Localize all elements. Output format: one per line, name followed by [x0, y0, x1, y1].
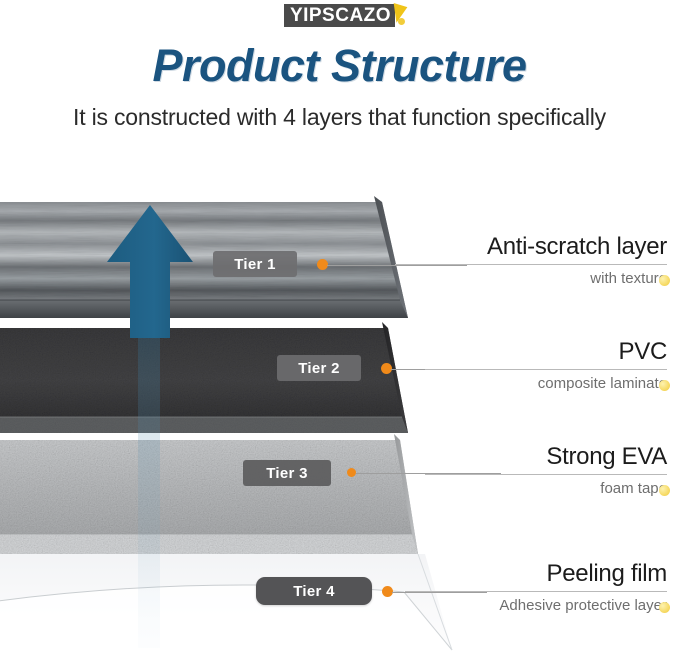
layer-2-gold-dot-icon: [659, 380, 670, 391]
infographic-page: YIPSCAZO Product Structure It is constru…: [0, 0, 679, 652]
layer-label-4-subtitle: Adhesive protective layer: [405, 597, 667, 614]
layer-label-3-subtitle: foam tape: [425, 480, 667, 497]
layer-4-gold-dot-icon: [659, 602, 670, 613]
layer-label-3-title: Strong EVA: [546, 443, 667, 471]
light-beam: [138, 318, 160, 648]
layer-label-3: Strong EVA foam tape: [425, 443, 667, 497]
layer-label-2-title: PVC: [619, 338, 667, 366]
logo-wordmark: YIPSCAZO: [290, 6, 391, 25]
layer-tier-1-shape: [0, 196, 408, 318]
layer-label-3-rule: [425, 474, 667, 475]
layer-1-gold-dot-icon: [659, 275, 670, 286]
layer-label-2-rule: [425, 369, 667, 370]
page-title: Product Structure: [0, 40, 679, 92]
tier-3-marker-dot-icon: [347, 468, 356, 477]
layer-label-1-rule: [395, 264, 667, 265]
brand-logo: YIPSCAZO: [0, 4, 679, 27]
layer-label-4: Peeling film Adhesive protective layer: [405, 560, 667, 614]
logo-dot-icon: [398, 18, 405, 25]
layer-label-4-title: Peeling film: [547, 560, 667, 588]
layer-label-4-rule: [405, 591, 667, 592]
layer-tier-3-shape: [0, 434, 418, 554]
layer-label-1-subtitle: with texture: [395, 270, 667, 287]
layer-label-2: PVC composite laminate: [425, 338, 667, 392]
layer-label-2-subtitle: composite laminate: [425, 375, 667, 392]
layer-3-gold-dot-icon: [659, 485, 670, 496]
page-subtitle: It is constructed with 4 layers that fun…: [0, 104, 679, 131]
layer-label-1: Anti-scratch layer with texture: [395, 233, 667, 287]
logo-bar: YIPSCAZO: [284, 4, 395, 27]
layer-tier-4-shape: [0, 554, 452, 650]
tier-badge-3[interactable]: Tier 3: [243, 460, 331, 486]
tier-badge-2[interactable]: Tier 2: [277, 355, 361, 381]
layer-label-1-title: Anti-scratch layer: [487, 233, 667, 261]
tier-badge-4[interactable]: Tier 4: [256, 577, 372, 605]
tier-badge-1[interactable]: Tier 1: [213, 251, 297, 277]
